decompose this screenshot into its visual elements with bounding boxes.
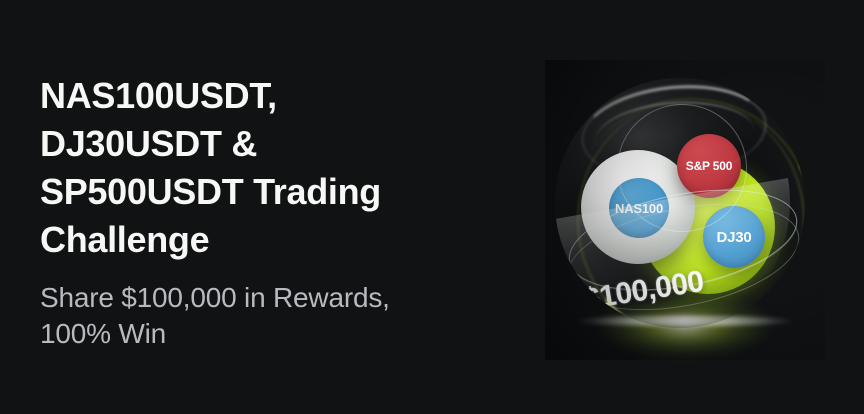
promo-subheadline: Share $100,000 in Rewards, 100% Win (40, 280, 510, 352)
promo-headline: NAS100USDT, DJ30USDT & SP500USDT Trading… (40, 72, 510, 264)
badge-sp500: S&P 500 (677, 134, 741, 198)
glass-sphere: NAS100 S&P 500 DJ30 $100,000 (555, 78, 805, 328)
promo-copy: NAS100USDT, DJ30USDT & SP500USDT Trading… (40, 72, 510, 352)
badge-dj30: DJ30 (703, 206, 765, 268)
glass-sphere-illustration: NAS100 S&P 500 DJ30 $100,000 (545, 60, 825, 360)
badge-nas100: NAS100 (609, 178, 669, 238)
promo-banner: NAS100USDT, DJ30USDT & SP500USDT Trading… (0, 0, 864, 414)
